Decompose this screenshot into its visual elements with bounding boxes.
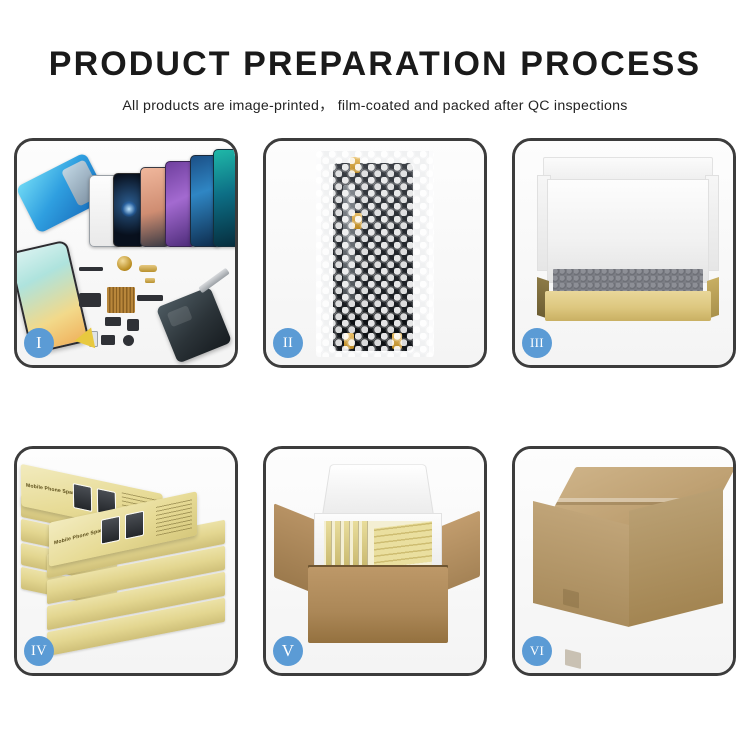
step-6-photo — [515, 449, 733, 673]
box-window-right — [125, 511, 144, 540]
page-subtitle: All products are image-printed， film-coa… — [0, 95, 750, 115]
spare-parts-cluster — [79, 253, 235, 361]
step-panel-3: III — [512, 138, 736, 368]
retail-box-edge — [326, 521, 331, 567]
carton-with-foam-box — [274, 459, 480, 659]
step-panel-1: I — [14, 138, 238, 368]
step-badge-3: III — [522, 328, 552, 358]
step-4-photo: Mobile Phone Spare Parts Mobile Phone Sp… — [17, 449, 235, 673]
process-step-grid: I II — [14, 138, 736, 676]
box-spec-lines — [156, 498, 192, 536]
part-chip — [105, 317, 121, 326]
step-panel-4: Mobile Phone Spare Parts Mobile Phone Sp… — [14, 446, 238, 676]
kraft-box-open — [537, 157, 719, 329]
page-title: PRODUCT PREPARATION PROCESS — [0, 47, 750, 81]
bag-sealed-edges — [316, 151, 434, 357]
step-badge-1: I — [24, 328, 54, 358]
carton-hand-hole-upper — [563, 589, 579, 609]
carton-hand-hole-lower — [565, 649, 581, 669]
part-taptic-motor — [123, 335, 134, 346]
part-bracket — [79, 293, 101, 307]
product-preparation-process-infographic: PRODUCT PREPARATION PROCESS All products… — [0, 0, 750, 750]
step-badge-2: II — [273, 328, 303, 358]
box-window-left — [101, 516, 120, 545]
part-camera — [127, 319, 139, 331]
packed-retail-boxes — [324, 521, 432, 567]
speaker-mesh-part — [117, 256, 132, 271]
part-flex-cable — [137, 295, 163, 301]
step-badge-4: IV — [24, 636, 54, 666]
part-strip — [79, 267, 103, 271]
part-screw-tray — [107, 287, 135, 313]
white-foam-liner — [547, 179, 709, 283]
carton-front-panel — [308, 567, 448, 643]
step-panel-2: II — [263, 138, 487, 368]
retail-box-edge — [353, 521, 358, 567]
step-3-photo — [515, 141, 733, 365]
bubble-wrap-bag — [316, 151, 434, 357]
phone-teal — [213, 149, 235, 247]
part-gold-small — [145, 278, 155, 283]
step-5-photo — [266, 449, 484, 673]
step-2-photo — [266, 141, 484, 365]
retail-box-edge — [344, 521, 349, 567]
phone-lineup — [87, 149, 235, 247]
header: PRODUCT PREPARATION PROCESS All products… — [0, 0, 750, 115]
step-badge-5: V — [273, 636, 303, 666]
step-badge-6: VI — [522, 636, 552, 666]
retail-box-flat-row — [374, 521, 432, 567]
retail-box-edge — [362, 521, 367, 567]
phone-back-housing — [156, 286, 232, 363]
step-panel-5: V — [263, 446, 487, 676]
retail-box-edge — [335, 521, 340, 567]
carton-right-face — [629, 487, 723, 626]
step-1-photo — [17, 141, 235, 365]
sealed-carton — [533, 467, 723, 647]
part-gold-bracket — [139, 265, 157, 272]
tweezers-tool — [198, 268, 230, 294]
box-window-left — [73, 483, 92, 512]
box-front-panel — [545, 291, 711, 321]
retail-box-stack: Mobile Phone Spare Parts Mobile Phone Sp… — [21, 463, 231, 659]
step-panel-6: VI — [512, 446, 736, 676]
part-shield — [101, 335, 115, 345]
